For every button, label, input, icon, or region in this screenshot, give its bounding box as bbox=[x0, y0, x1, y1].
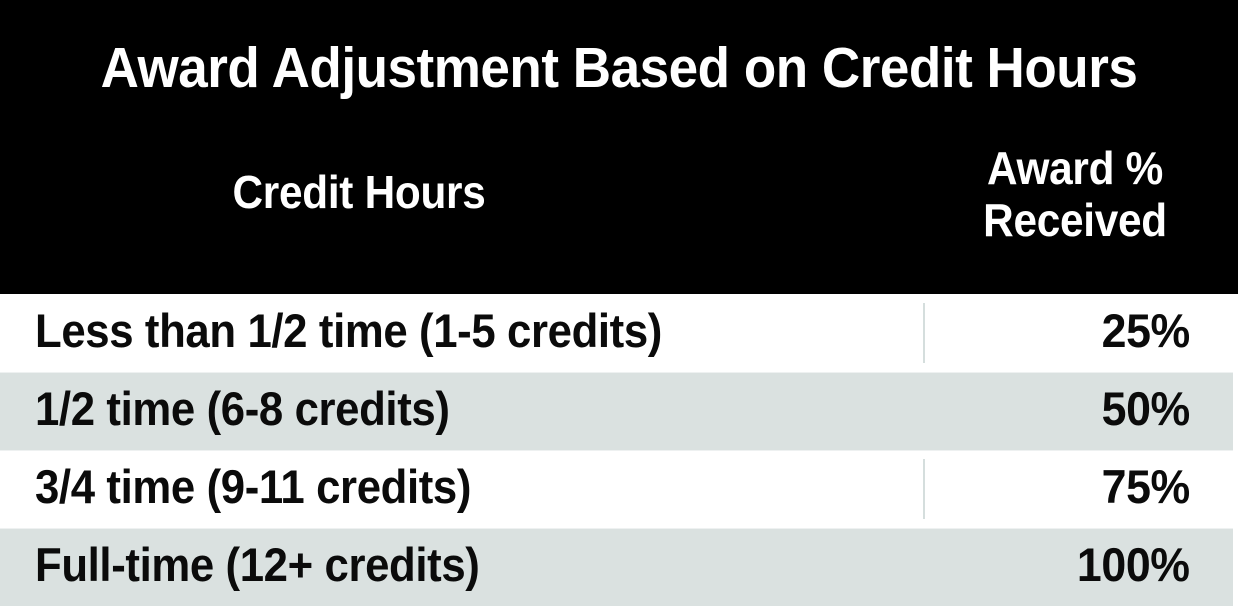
column-header-award-percent-line1: Award % bbox=[951, 142, 1199, 194]
table-header: Award Adjustment Based on Credit Hours C… bbox=[0, 0, 1238, 294]
cell-award-percent: 50% bbox=[1102, 372, 1190, 450]
column-header-row: Credit Hours Award % Received bbox=[0, 130, 1238, 294]
column-header-award-percent-line2: Received bbox=[951, 194, 1199, 246]
cell-credit-hours: Less than 1/2 time (1-5 credits) bbox=[35, 294, 662, 372]
table-row: 3/4 time (9-11 credits) 75% bbox=[0, 450, 1238, 528]
column-header-award-percent: Award % Received bbox=[951, 142, 1199, 246]
award-adjustment-table: Award Adjustment Based on Credit Hours C… bbox=[0, 0, 1238, 608]
cell-credit-hours: 3/4 time (9-11 credits) bbox=[35, 450, 471, 528]
cell-award-percent: 25% bbox=[1102, 294, 1190, 372]
column-divider bbox=[923, 459, 925, 519]
table-row: Full-time (12+ credits) 100% bbox=[0, 528, 1238, 606]
table-row: 1/2 time (6-8 credits) 50% bbox=[0, 372, 1238, 450]
cell-award-percent: 75% bbox=[1102, 450, 1190, 528]
cell-credit-hours: 1/2 time (6-8 credits) bbox=[35, 372, 450, 450]
cell-credit-hours: Full-time (12+ credits) bbox=[35, 528, 479, 606]
page-title: Award Adjustment Based on Credit Hours bbox=[43, 36, 1194, 100]
right-gutter bbox=[1233, 294, 1238, 608]
cell-award-percent: 100% bbox=[1077, 528, 1190, 606]
table-row: Less than 1/2 time (1-5 credits) 25% bbox=[0, 294, 1238, 372]
column-divider bbox=[923, 303, 925, 363]
column-header-credit-hours: Credit Hours bbox=[61, 166, 657, 218]
table-body: Less than 1/2 time (1-5 credits) 25% 1/2… bbox=[0, 294, 1238, 608]
